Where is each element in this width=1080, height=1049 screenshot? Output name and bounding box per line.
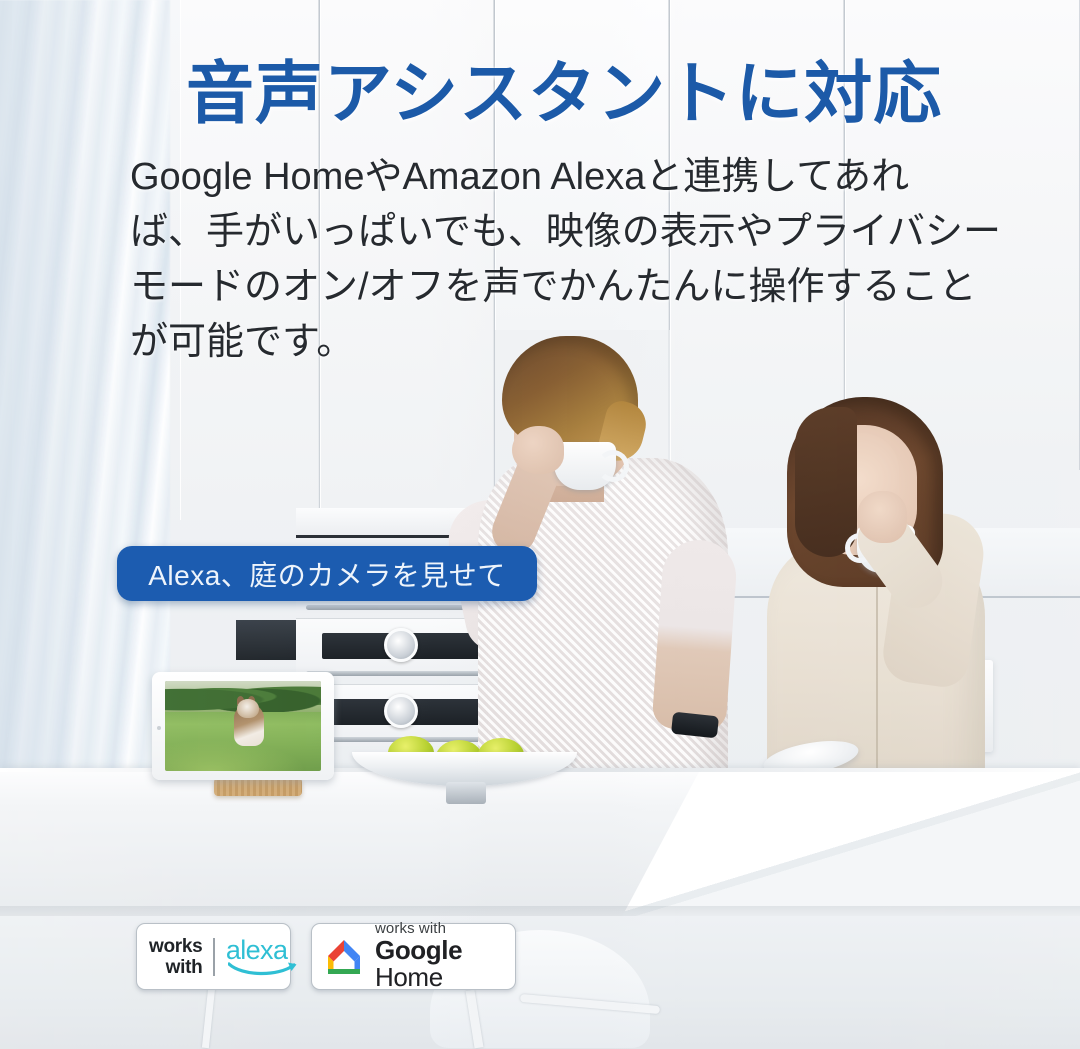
body-paragraph: Google HomeやAmazon Alexaと連携してあれ ば、手がいっぱい… xyxy=(130,150,960,370)
body-line-4: が可能です。 xyxy=(130,315,960,370)
works-with-alexa-badge: works with alexa xyxy=(136,923,291,990)
body-line-1: Google HomeやAmazon Alexaと連携してあれ xyxy=(130,150,960,205)
woman-hand xyxy=(857,491,907,543)
badge-divider xyxy=(213,938,214,976)
counter-corner xyxy=(620,770,1080,920)
google-home-wordmark: Google Home xyxy=(375,937,503,992)
works-line-2: with xyxy=(149,957,202,978)
bowl-dish xyxy=(352,752,577,786)
fruit-bowl xyxy=(352,742,577,794)
oven-knob xyxy=(384,628,418,662)
dog-head xyxy=(237,699,259,718)
tablet-front-camera-icon xyxy=(157,726,161,730)
google-home-label: works with Google Home xyxy=(375,921,503,991)
amazon-smile-icon xyxy=(228,961,300,977)
body-line-2: ば、手がいっぱいでも、映像の表示やプライバシー xyxy=(130,205,960,260)
works-with-label: works with xyxy=(149,936,202,978)
alexa-logo: alexa xyxy=(226,935,278,979)
works-line-1: works xyxy=(149,936,202,957)
voice-command-text: Alexa、庭のカメラを見せて xyxy=(148,554,506,594)
man-right-arm xyxy=(651,538,738,733)
voice-command-bubble: Alexa、庭のカメラを見せて xyxy=(117,546,537,601)
google-word: Google xyxy=(375,935,462,965)
compatibility-badges: works with alexa works with Google Home xyxy=(136,923,516,990)
body-line-3: モードのオン/オフを声でかんたんに操作すること xyxy=(130,260,960,315)
tablet-device xyxy=(152,672,334,780)
wrist-watch xyxy=(671,712,719,739)
tablet-screen-camera-feed xyxy=(165,681,321,771)
person-woman xyxy=(745,395,1005,805)
page-title: 音声アシスタントに対応 xyxy=(186,38,942,137)
bowl-foot xyxy=(446,782,486,804)
woman-hair-front xyxy=(795,407,857,557)
works-with-google-home-badge: works with Google Home xyxy=(311,923,516,990)
oven-knob xyxy=(384,694,418,728)
tablet-wooden-stand xyxy=(214,778,302,796)
man-hand xyxy=(512,426,564,474)
home-word: Home xyxy=(375,962,443,992)
google-home-house-icon xyxy=(324,938,364,976)
window-curtain xyxy=(0,0,170,800)
